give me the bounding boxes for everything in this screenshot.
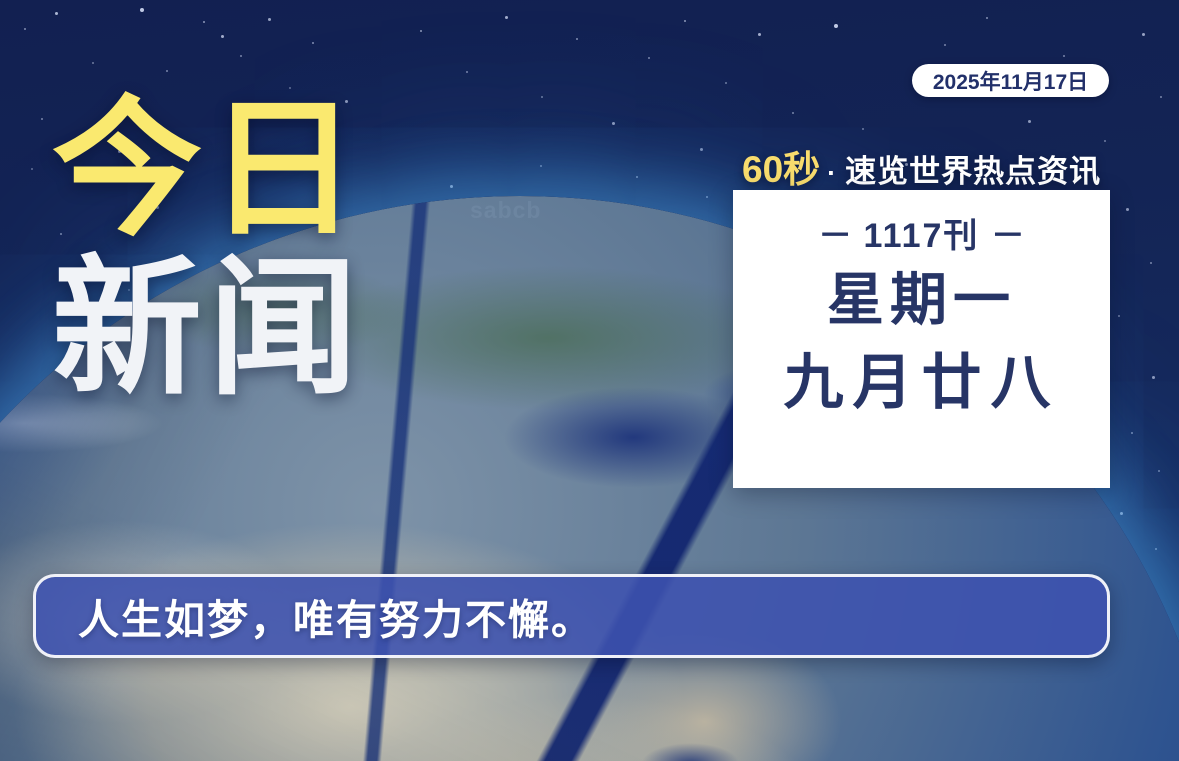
- issue-dash-left: －: [818, 217, 852, 255]
- quote-text: 人生如梦，唯有努力不懈。: [78, 586, 594, 646]
- issue-dash-right: －: [991, 217, 1025, 255]
- issue-row: － 1117刊 －: [818, 208, 1025, 257]
- issue-number: 1117刊: [864, 217, 980, 255]
- info-card: － 1117刊 － 星期一 九月廿八: [733, 190, 1110, 488]
- news-poster: sabcb 今日 新闻 2025年11月17日 60秒 · 速览世界热点资讯 －…: [0, 0, 1179, 761]
- subtitle-tagline: 速览世界热点资讯: [845, 146, 1101, 191]
- title-line-today: 今日: [52, 96, 364, 243]
- subtitle-seconds: 60秒: [742, 139, 820, 193]
- date-badge: 2025年11月17日: [912, 64, 1109, 97]
- lunar-date-label: 九月廿八: [784, 351, 1060, 414]
- title-line-news: 新闻: [52, 255, 364, 402]
- weekday-label: 星期一: [827, 271, 1016, 331]
- quote-bar: 人生如梦，唯有努力不懈。: [33, 574, 1110, 658]
- subtitle: 60秒 · 速览世界热点资讯: [742, 139, 1101, 193]
- page-title: 今日 新闻: [52, 96, 364, 402]
- watermark-text: sabcb: [470, 197, 541, 224]
- subtitle-separator: ·: [827, 158, 836, 189]
